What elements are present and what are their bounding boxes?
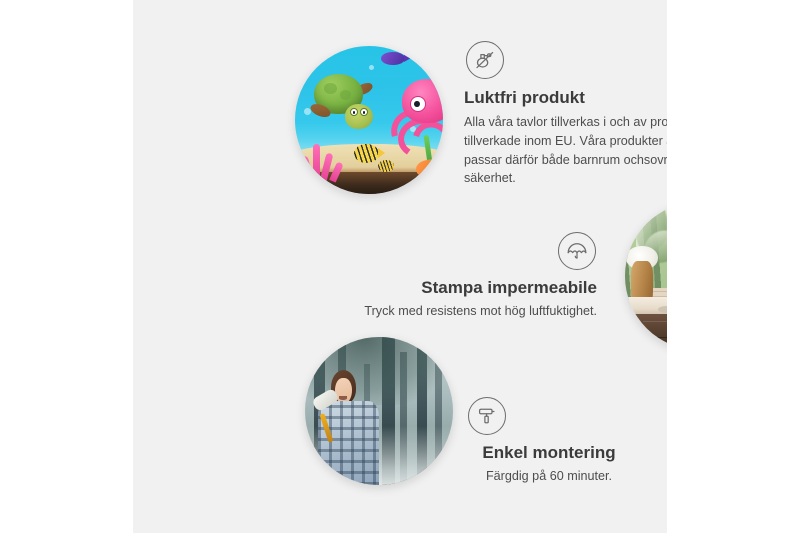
woman-figure xyxy=(311,370,394,485)
drawer-handle xyxy=(661,344,667,348)
underwater-scene xyxy=(295,46,443,194)
feature-description: Tryck med resistens mot hög luftfuktighe… xyxy=(309,302,597,321)
feature-description: Färgdig på 60 minuter. xyxy=(433,467,665,486)
cabinet-drawer xyxy=(643,321,667,339)
feature-image-underwater xyxy=(295,46,443,194)
no-odour-perfume-bottle-icon xyxy=(466,41,504,79)
purple-fish-icon xyxy=(381,52,405,65)
feature-block-stampa-impermeabile: Stampa impermeabile Tryck med resistens … xyxy=(309,232,597,321)
feature-block-luktfri-produkt: Luktfri produkt Alla våra tavlor tillver… xyxy=(464,41,667,188)
feature-image-bathroom xyxy=(625,202,667,350)
octopus-icon xyxy=(390,79,443,150)
feature-title: Stampa impermeabile xyxy=(309,278,597,298)
umbrella-icon xyxy=(558,232,596,270)
coral-branch xyxy=(300,156,314,183)
woman-smile xyxy=(339,396,347,399)
paint-roller-icon xyxy=(468,397,506,435)
content-panel: Luktfri produkt Alla våra tavlor tillver… xyxy=(133,0,667,533)
feature-description: Alla våra tavlor tillverkas i och av pro… xyxy=(464,113,667,188)
yellow-fish-icon xyxy=(354,144,379,163)
bubble-icon xyxy=(369,65,374,70)
woman-plaid-shirt xyxy=(318,401,379,485)
coral-branch xyxy=(329,162,343,183)
turtle-eye xyxy=(350,108,358,117)
bathroom-scene xyxy=(625,202,667,350)
feature-block-enkel-montering: Enkel montering Färgdig på 60 minuter. xyxy=(433,397,665,486)
turtle-icon xyxy=(308,71,382,136)
coral-branch xyxy=(313,144,320,182)
feature-title: Luktfri produkt xyxy=(464,88,667,108)
small-fish-icon xyxy=(378,160,394,172)
forest-scene xyxy=(305,337,453,485)
octopus-eye xyxy=(410,96,426,112)
feature-title: Enkel montering xyxy=(433,443,665,463)
turtle-eye xyxy=(360,108,368,117)
octopus-head xyxy=(402,79,443,123)
wood-cabinet xyxy=(631,314,667,350)
coral-icon xyxy=(301,141,345,182)
turtle-head xyxy=(345,104,373,129)
feature-image-woman-forest xyxy=(305,337,453,485)
page-root: Luktfri produkt Alla våra tavlor tillver… xyxy=(0,0,800,533)
